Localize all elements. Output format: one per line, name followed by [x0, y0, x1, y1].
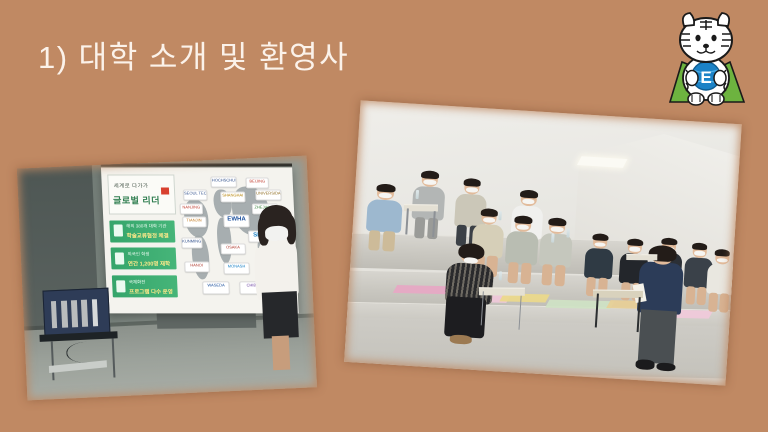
slide-bullet-2: 외국인 학생 연간 1,200명 재학 — [110, 248, 176, 270]
audience-person — [537, 217, 576, 287]
slide-bullet-3: 국제화전 프로그램 다수 운영 — [112, 276, 178, 298]
audience-person — [582, 233, 616, 298]
map-logo-chip: UNIVERSIDAD — [255, 189, 282, 200]
globe-letter: E — [700, 68, 711, 87]
slide-headline-box: 세계로 다가가 글로벌 리더 — [107, 175, 176, 215]
slide-canvas: 1) 대학 소개 및 환영사 E — [0, 0, 768, 432]
map-logo-chip: NANJING — [179, 203, 203, 214]
white-tiger-mascot-logo: E — [658, 6, 754, 110]
slide-bullet-1: 해외 380개 대학 기관 학술교류협정 체결 — [109, 220, 175, 242]
map-logo-chip: MONASH — [223, 262, 250, 274]
map-logo-chip: HOCHSCHULE — [211, 176, 238, 187]
map-logo-chip: WASEDA — [202, 282, 230, 294]
water-bottle — [499, 272, 503, 281]
floor-mat — [545, 300, 615, 310]
folding-side-table — [593, 289, 643, 297]
slide-bullet-2-value: 연간 1,200명 재학 — [128, 259, 171, 267]
map-logo-chip: BEIJING — [246, 178, 269, 189]
slide-bullet-1-value: 학술교류협정 체결 — [127, 231, 169, 239]
slide-headline-small: 세계로 다가가 — [114, 181, 149, 189]
map-logo-chip: SHANGHAI — [220, 192, 245, 203]
slide-bullet-1-label: 해외 380개 대학 기관 — [126, 224, 167, 230]
map-logo-chip: OSAKA — [220, 243, 245, 254]
globe-icon — [116, 280, 126, 292]
av-equipment-cart — [43, 288, 111, 337]
slide-bullet-3-label: 국제화전 — [129, 279, 146, 285]
audience-person — [703, 248, 737, 313]
folding-side-table — [626, 254, 657, 261]
audience-person — [363, 182, 405, 252]
slide-headline-main: 글로벌 리더 — [113, 193, 161, 206]
slide-bullet-2-label: 외국인 학생 — [127, 251, 149, 257]
map-logo-chip: TIANJIN — [182, 216, 206, 227]
audience-person — [502, 214, 541, 284]
page-title: 1) 대학 소개 및 환영사 — [38, 36, 638, 80]
building-icon — [114, 225, 124, 237]
water-bottle — [551, 233, 555, 242]
map-logo-chip: SEOUL TECH — [183, 189, 207, 200]
audience-lecture-hall-photo — [344, 100, 742, 385]
slide-bullet-3-value: 프로그램 다수 운영 — [129, 287, 173, 295]
map-logo-chip: KUNMING — [181, 238, 203, 249]
water-bottle — [566, 229, 570, 238]
korea-flag-icon — [161, 187, 169, 194]
face-mask — [265, 225, 289, 241]
map-logo-chip: HANOI — [184, 261, 209, 272]
student-icon — [115, 253, 125, 265]
presenter-person — [251, 207, 308, 371]
presentation-screen-photo: 세계로 다가가 글로벌 리더 해외 380개 대학 기관 학술교류협정 체결 외… — [17, 156, 317, 401]
map-logo-chip: EWHA — [223, 215, 250, 227]
folding-side-table — [479, 287, 525, 295]
